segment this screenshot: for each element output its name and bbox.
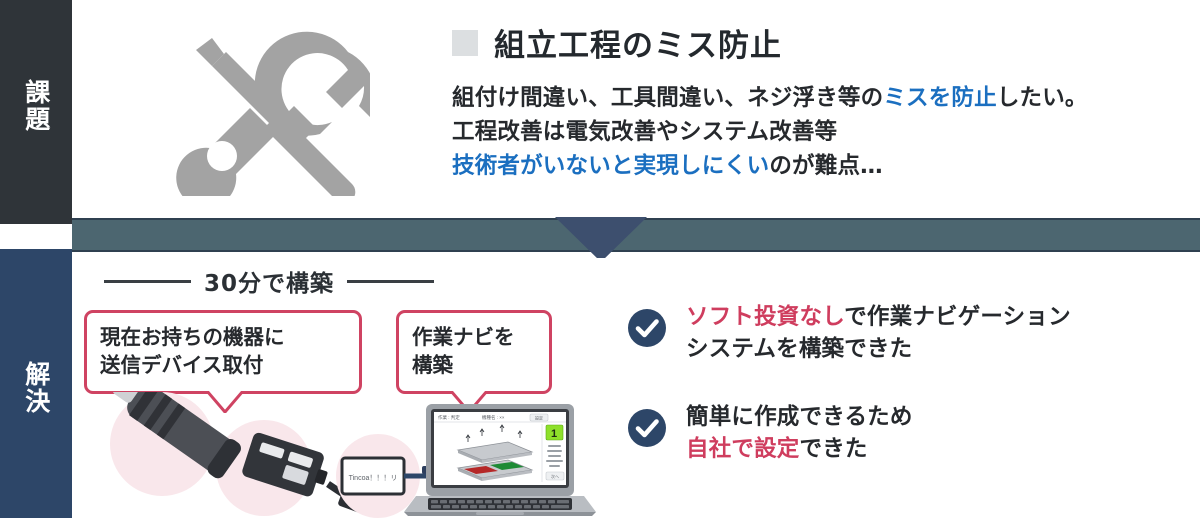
band-rail-bottom-cap: [0, 249, 72, 258]
callout-navigation-text: 作業ナビを 構築: [399, 313, 549, 391]
build-time-text: 30分で構築: [204, 264, 334, 298]
check-circle-icon: [628, 409, 666, 447]
issue-description: 組付け間違い、工具間違い、ネジ浮き等のミスを防止したい。工程改善は電気改善やシス…: [452, 81, 1192, 184]
benefit-no-software-investment: ソフト投資なしで作業ナビゲーションシステムを構築できた: [628, 302, 1198, 366]
issue-rail-label: 課題: [18, 79, 54, 133]
solution-rail: 解決: [0, 258, 72, 518]
screen-header-center: 機種名 : ××: [482, 414, 505, 421]
callout-transmitter-text: 現在お持ちの機器に 送信デバイス取付: [87, 313, 359, 391]
infographic-page: 課題 組立工程のミス防止: [0, 0, 1200, 518]
issue-title-text: 組立工程のミス防止: [494, 20, 782, 65]
screen-header-left: 作業 : 判定: [438, 414, 460, 421]
rule-right: [347, 280, 434, 283]
section-divider-band: [0, 212, 1200, 258]
issue-title: 組立工程のミス防止: [452, 20, 1192, 65]
laptop-work-navigation-screen: Tincoa！！！リ 作業 : 判定 機種名 : ×× 設定: [330, 392, 610, 518]
benefit-self-configuration: 簡単に作成できるため自社で設定できた: [628, 402, 1198, 466]
screwdriver-wrench-icon: [160, 16, 370, 196]
callout-transmitter: 現在お持ちの機器に 送信デバイス取付: [84, 310, 362, 394]
benefit-text: ソフト投資なしで作業ナビゲーションシステムを構築できた: [686, 302, 1071, 366]
screen-header-right: 設定: [535, 414, 543, 420]
rule-left: [104, 280, 191, 283]
benefits-list: ソフト投資なしで作業ナビゲーションシステムを構築できた 簡単に作成できるため自社…: [628, 302, 1198, 502]
screen-step-badge: 1: [551, 428, 557, 440]
check-circle-icon: [628, 309, 666, 347]
issue-rail: 課題: [0, 0, 72, 212]
issue-body: 組立工程のミス防止 組付け間違い、工具間違い、ネジ浮き等のミスを防止したい。工程…: [452, 20, 1192, 184]
square-bullet-icon: [452, 30, 478, 56]
benefit-text: 簡単に作成できるため自社で設定できた: [686, 402, 913, 466]
build-time-header: 30分で構築: [104, 264, 434, 298]
screen-footer-button: 次へ: [551, 473, 559, 479]
band-rail-top-cap: [0, 212, 72, 224]
issue-section: 課題 組立工程のミス防止: [0, 0, 1200, 212]
down-arrow-triangle-icon: [555, 217, 647, 262]
callout-navigation: 作業ナビを 構築: [396, 310, 552, 394]
solution-rail-label: 解決: [18, 361, 54, 415]
receiver-label: Tincoa！！！リ: [349, 474, 398, 482]
